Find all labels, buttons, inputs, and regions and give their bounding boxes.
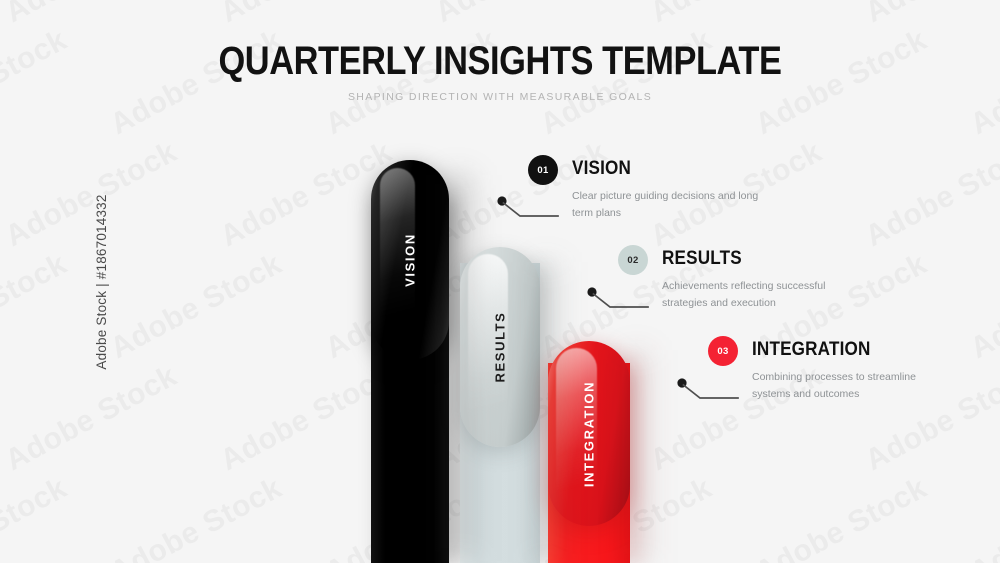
- legend-badge-01: 01: [528, 155, 558, 185]
- leader-line-01: [496, 195, 566, 225]
- leader-line-02: [586, 286, 656, 316]
- legend-title-results: RESULTS: [662, 248, 742, 270]
- bar-results-cap: RESULTS: [460, 247, 540, 447]
- bar-vision-label: VISION: [403, 233, 418, 287]
- legend-title-vision: VISION: [572, 158, 631, 180]
- bar-integration-label: INTEGRATION: [582, 380, 597, 486]
- header: QUARTERLY INSIGHTS TEMPLATE SHAPING DIRE…: [0, 40, 1000, 103]
- page-title: QUARTERLY INSIGHTS TEMPLATE: [70, 40, 930, 82]
- leader-path-03: [684, 385, 739, 398]
- legend-description-integration: Combining processes to streamline system…: [752, 369, 957, 403]
- page-subtitle: SHAPING DIRECTION WITH MEASURABLE GOALS: [0, 91, 1000, 103]
- legend-badge-03: 03: [708, 336, 738, 366]
- legend-description-results: Achievements reflecting successful strat…: [662, 278, 867, 312]
- legend-badge-02: 02: [618, 245, 648, 275]
- integration-bar-shadow: [627, 350, 657, 563]
- leader-line-03: [676, 377, 746, 407]
- legend-title-integration: INTEGRATION: [752, 339, 871, 361]
- legend-description-vision: Clear picture guiding decisions and long…: [572, 188, 777, 222]
- stock-credit-label: Adobe Stock | #1867014332: [94, 194, 109, 369]
- leader-path-02: [594, 294, 649, 307]
- bar-results-label: RESULTS: [493, 312, 508, 383]
- bar-vision-cap: VISION: [371, 160, 449, 360]
- leader-path-01: [504, 203, 559, 216]
- bar-integration-cap: INTEGRATION: [548, 341, 630, 526]
